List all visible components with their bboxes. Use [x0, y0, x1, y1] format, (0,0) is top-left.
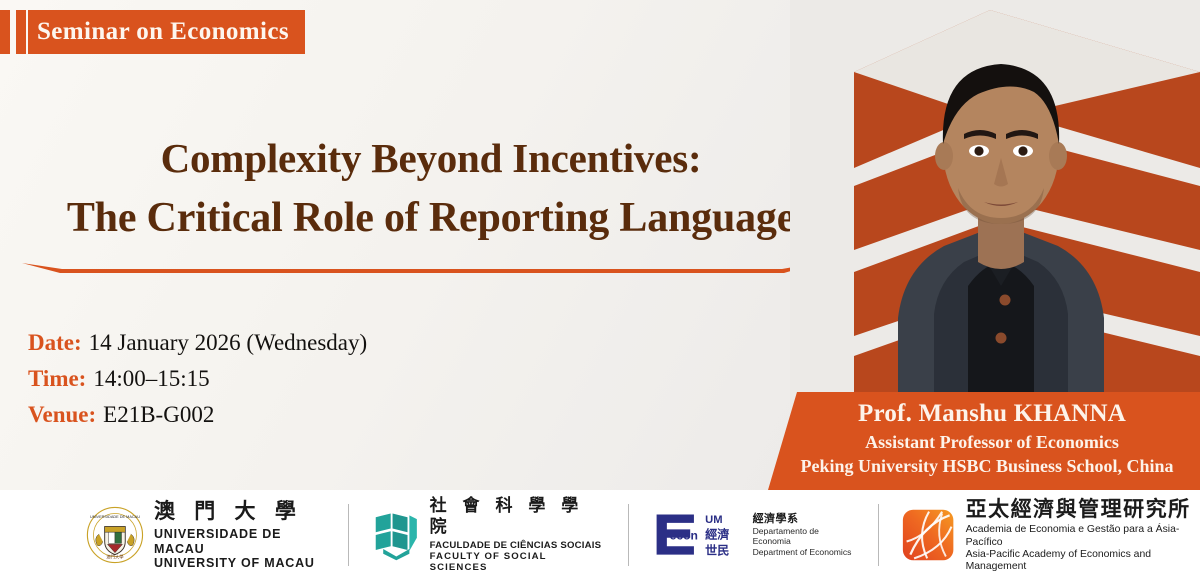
svg-text:econ: econ — [670, 529, 698, 543]
apaem-name-cn: 亞太經濟與管理研究所 — [966, 497, 1200, 522]
econ-name-cn: 經濟學系 — [753, 513, 853, 526]
title-line-1: Complexity Beyond Incentives: — [0, 128, 862, 188]
um-name-cn: 澳 門 大 學 — [154, 499, 324, 524]
logo-asia-pacific-academy: 亞太經濟與管理研究所 Academia de Economia e Gestão… — [879, 499, 1200, 571]
seminar-poster: Seminar on Economics Complexity Beyond I… — [0, 0, 1200, 580]
header-accent-bar-1 — [0, 10, 10, 54]
fss-monogram-icon — [372, 508, 421, 562]
svg-text:UNIVERSIDADE DE MACAU: UNIVERSIDADE DE MACAU — [90, 515, 140, 519]
speaker-info-banner: Prof. Manshu KHANNA Assistant Professor … — [768, 392, 1200, 490]
apaem-name-en: Asia-Pacific Academy of Economics and Ma… — [966, 549, 1200, 574]
footer-logo-bar: UNIVERSIDADE DE MACAU 澳門大學 澳 門 大 學 UNIVE… — [0, 490, 1200, 580]
detail-row-time: Time: 14:00–15:15 — [28, 366, 367, 392]
event-details: Date: 14 January 2026 (Wednesday) Time: … — [28, 330, 367, 438]
fss-name-cn: 社 會 科 學 學 院 — [430, 496, 604, 536]
speaker-name: Prof. Manshu KHANNA — [768, 398, 1200, 430]
title-line-2: The Critical Role of Reporting Language — [0, 188, 862, 248]
um-econ-icon: econ UM 經濟 世民 — [651, 507, 741, 563]
apaem-text-block: 亞太經濟與管理研究所 Academia de Economia e Gestão… — [966, 497, 1200, 574]
seminar-title: Complexity Beyond Incentives: The Critic… — [0, 128, 862, 248]
logo-department-of-economics: econ UM 經濟 世民 經濟學系 Departamento de Econo… — [629, 499, 852, 571]
apaem-globe-icon — [901, 506, 955, 564]
um-name-pt: UNIVERSIDADE DE MACAU — [154, 527, 324, 557]
fss-text-block: 社 會 科 學 學 院 FACULDADE DE CIÊNCIAS SOCIAI… — [430, 496, 604, 573]
svg-text:經濟: 經濟 — [705, 527, 729, 542]
econ-name-pt: Departamento de Economia — [753, 526, 853, 546]
seminar-series-label: Seminar on Economics — [28, 18, 289, 46]
date-label: Date: — [28, 330, 82, 356]
apaem-name-pt: Academia de Economia e Gestão para a Ási… — [966, 524, 1200, 549]
logo-faculty-of-social-sciences: 社 會 科 學 學 院 FACULDADE DE CIÊNCIAS SOCIAI… — [349, 499, 604, 571]
svg-text:UM: UM — [705, 514, 722, 526]
venue-label: Venue: — [28, 402, 96, 428]
um-crest-icon: UNIVERSIDADE DE MACAU 澳門大學 — [86, 504, 144, 566]
logo-university-of-macau: UNIVERSIDADE DE MACAU 澳門大學 澳 門 大 學 UNIVE… — [0, 499, 324, 571]
title-underline-ribbon — [22, 261, 822, 273]
econ-name-en: Department of Economics — [753, 547, 853, 557]
um-text-block: 澳 門 大 學 UNIVERSIDADE DE MACAU UNIVERSITY… — [154, 499, 324, 571]
header-accent-bar-2 — [16, 10, 26, 54]
speaker-affiliation: Peking University HSBC Business School, … — [768, 454, 1200, 478]
um-name-en: UNIVERSITY OF MACAU — [154, 556, 324, 571]
speaker-role: Assistant Professor of Economics — [768, 430, 1200, 454]
venue-value: E21B-G002 — [103, 402, 214, 428]
fss-name-en: FACULTY OF SOCIAL SCIENCES — [430, 551, 604, 574]
svg-text:世民: 世民 — [705, 543, 729, 558]
econ-text-block: 經濟學系 Departamento de Economia Department… — [753, 513, 853, 556]
seminar-series-badge: Seminar on Economics — [28, 10, 305, 54]
speaker-portrait — [882, 18, 1120, 438]
date-value: 14 January 2026 (Wednesday) — [89, 330, 368, 356]
fss-name-pt: FACULDADE DE CIÊNCIAS SOCIAIS — [430, 540, 604, 551]
detail-row-date: Date: 14 January 2026 (Wednesday) — [28, 330, 367, 356]
time-value: 14:00–15:15 — [93, 366, 209, 392]
time-label: Time: — [28, 366, 86, 392]
detail-row-venue: Venue: E21B-G002 — [28, 402, 367, 428]
